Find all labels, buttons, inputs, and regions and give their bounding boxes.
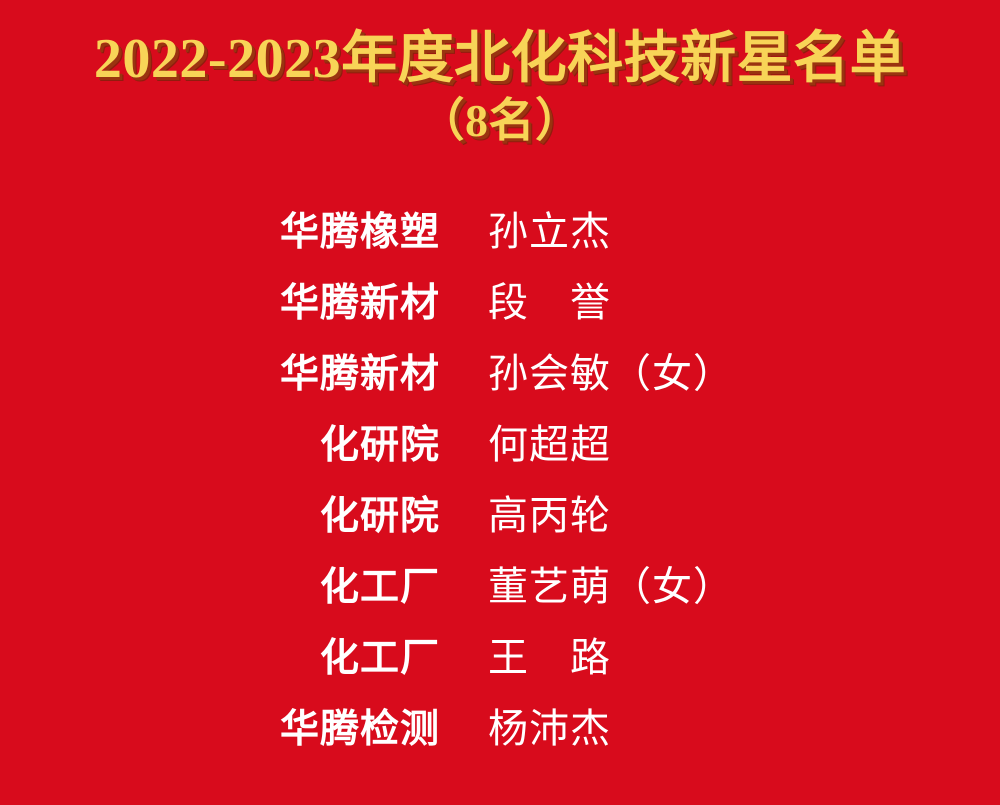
recipient-department: 化工厂	[0, 552, 440, 623]
list-item: 华腾新材 孙会敏（女）	[0, 338, 1000, 409]
recipient-name: 董艺萌（女）	[488, 551, 734, 622]
recipient-name: 孙立杰	[488, 196, 611, 267]
recipient-department: 华腾新材	[0, 339, 440, 410]
list-item: 化工厂 王 路	[0, 622, 1000, 693]
award-recipient-list: 华腾橡塑 孙立杰 华腾新材 段 誉 华腾新材 孙会敏（女） 化研院 何超超 化研…	[0, 196, 1000, 764]
recipient-name: 何超超	[488, 409, 611, 480]
recipient-department: 华腾检测	[0, 694, 440, 765]
recipient-department: 化工厂	[0, 623, 440, 694]
recipient-department: 化研院	[0, 410, 440, 481]
list-item: 华腾检测 杨沛杰	[0, 693, 1000, 764]
recipient-name: 王 路	[488, 622, 611, 693]
list-item: 华腾新材 段 誉	[0, 267, 1000, 338]
list-item: 化工厂 董艺萌（女）	[0, 551, 1000, 622]
recipient-name: 杨沛杰	[488, 693, 611, 764]
list-item: 华腾橡塑 孙立杰	[0, 196, 1000, 267]
poster-title-main: 2022-2023年度北化科技新星名单	[0, 28, 1000, 90]
recipient-name: 孙会敏（女）	[488, 338, 734, 409]
recipient-name: 高丙轮	[488, 480, 611, 551]
poster-title-block: 2022-2023年度北化科技新星名单 （8名）	[0, 28, 1000, 150]
recipient-department: 华腾橡塑	[0, 197, 440, 268]
recipient-department: 化研院	[0, 481, 440, 552]
award-list-poster: 2022-2023年度北化科技新星名单 （8名） 华腾橡塑 孙立杰 华腾新材 段…	[0, 0, 1000, 805]
list-item: 化研院 何超超	[0, 409, 1000, 480]
recipient-name: 段 誉	[488, 267, 611, 338]
poster-title-subtitle: （8名）	[0, 92, 1000, 150]
recipient-department: 华腾新材	[0, 268, 440, 339]
list-item: 化研院 高丙轮	[0, 480, 1000, 551]
